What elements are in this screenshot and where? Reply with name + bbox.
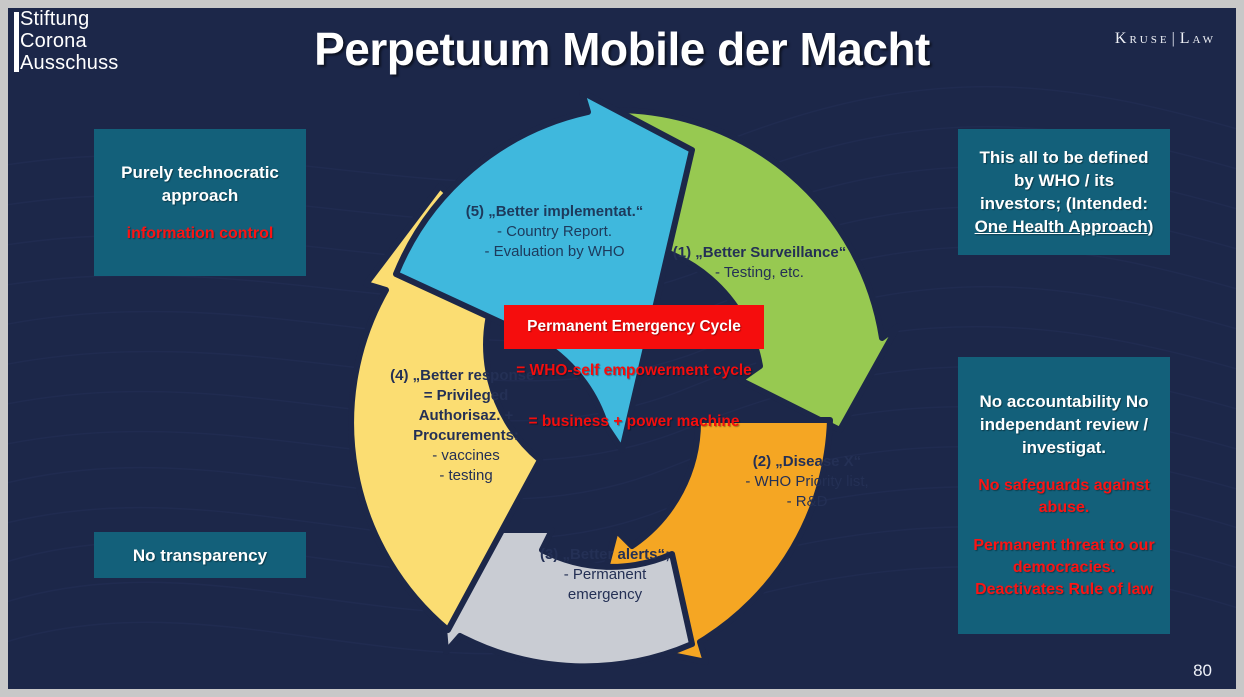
- cycle-label-3-detail-1: - Permanent: [510, 565, 700, 585]
- callout-technocratic-red-text: information control: [127, 223, 274, 245]
- center-red-note-2: = business + power machine: [484, 411, 784, 432]
- cycle-label-2-detail-2: - R&D: [722, 492, 892, 512]
- law-logo-left: Kruse: [1115, 30, 1170, 47]
- who-line-2: by WHO / its: [975, 169, 1154, 192]
- callout-who-defined: This all to be defined by WHO / its inve…: [958, 129, 1170, 255]
- who-line-3: investors; (Intended:: [975, 192, 1154, 215]
- cycle-label-2: (2) „Disease X“ - WHO Priority list, - R…: [722, 452, 892, 512]
- cycle-label-5-detail-2: - Evaluation by WHO: [452, 242, 657, 262]
- law-firm-logo: Kruse|Law: [1115, 30, 1216, 48]
- who-line-1: This all to be defined: [975, 146, 1154, 169]
- callout-accountability-red-2: Permanent threat to our democracies. Dea…: [968, 535, 1160, 601]
- cycle-label-4-detail-5: - testing: [390, 466, 542, 486]
- cycle-label-3: (3) „Better alerts“; - Permanent emergen…: [510, 545, 700, 605]
- cycle-label-1: (1) „Better Surveillance“ - Testing, etc…: [652, 243, 867, 283]
- cycle-label-3-detail-2: emergency: [510, 585, 700, 605]
- cycle-label-3-title: (3) „Better alerts“;: [510, 545, 700, 565]
- who-line-4-tail: ): [1148, 217, 1154, 236]
- page-number: 80: [1193, 661, 1212, 681]
- center-red-note-1: = WHO-self empowerment cycle: [484, 360, 784, 381]
- slide-root: Stiftung Corona Ausschuss Perpetuum Mobi…: [0, 0, 1244, 697]
- page-title: Perpetuum Mobile der Macht: [0, 22, 1244, 76]
- cycle-label-2-detail-1: - WHO Priority list,: [722, 472, 892, 492]
- callout-no-transparency-heading: No transparency: [133, 544, 267, 567]
- cycle-label-5: (5) „Better implementat.“ - Country Repo…: [452, 202, 657, 262]
- cycle-label-1-title: (1) „Better Surveillance“: [652, 243, 867, 263]
- callout-who-defined-text: This all to be defined by WHO / its inve…: [975, 146, 1154, 238]
- cycle-label-4-detail-1: = Privileged: [390, 386, 542, 406]
- law-logo-separator: |: [1170, 30, 1180, 47]
- callout-technocratic-heading: Purely technocratic approach: [104, 161, 296, 207]
- cycle-label-2-title: (2) „Disease X“: [722, 452, 892, 472]
- callout-technocratic: Purely technocratic approach information…: [94, 129, 306, 276]
- callout-accountability: No accountability No independant review …: [958, 357, 1170, 634]
- cycle-label-4-detail-4: - vaccines: [390, 446, 542, 466]
- callout-accountability-heading: No accountability No independant review …: [968, 390, 1160, 459]
- callout-accountability-red-1: No safeguards against abuse.: [968, 475, 1160, 519]
- cycle-label-5-detail-1: - Country Report.: [452, 222, 657, 242]
- law-logo-right: Law: [1180, 30, 1216, 47]
- banner-label: Permanent Emergency Cycle: [527, 318, 741, 336]
- who-line-4: One Health Approach): [975, 215, 1154, 238]
- cycle-label-1-detail-1: - Testing, etc.: [652, 263, 867, 283]
- permanent-emergency-cycle-banner: Permanent Emergency Cycle: [504, 305, 764, 349]
- callout-no-transparency: No transparency: [94, 532, 306, 578]
- one-health-approach-link: One Health Approach: [975, 217, 1148, 236]
- cycle-label-5-title: (5) „Better implementat.“: [452, 202, 657, 222]
